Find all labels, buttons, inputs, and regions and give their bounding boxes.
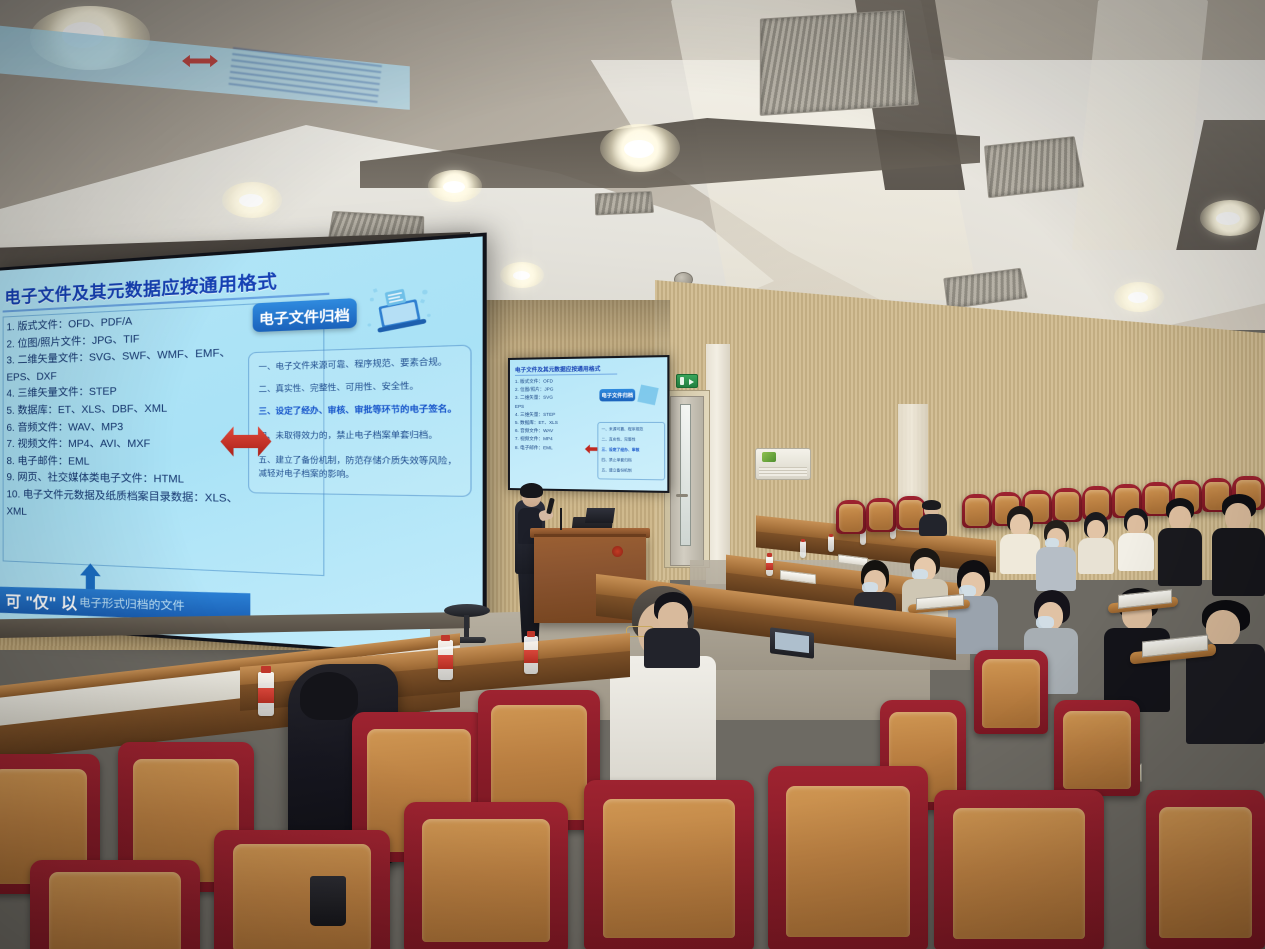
presenter-hair <box>520 483 543 498</box>
slide2-red-arrow-icon <box>585 444 597 453</box>
audience-member <box>1118 508 1154 568</box>
audience-member <box>1000 506 1040 570</box>
auditorium-seat[interactable] <box>584 780 754 949</box>
water-bottle <box>829 534 833 537</box>
slide-right-line: 一、电子文件来源可靠、程序规范、要素合规。 <box>259 356 448 372</box>
water-bottle <box>438 655 453 669</box>
auditorium-seat[interactable] <box>1054 700 1140 796</box>
downlight-icon <box>1216 212 1240 225</box>
downlight-icon <box>624 140 654 158</box>
auditorium-seat[interactable] <box>974 650 1048 734</box>
auditorium-seat[interactable] <box>768 766 928 949</box>
conference-hall-photo: 电子文件及其元数据应按通用格式 1. 版式文件：OFD、PDF/A 2. 位图/… <box>0 0 1265 949</box>
laptop-document-archive-icon <box>364 282 434 339</box>
door-glass-panel <box>680 404 691 546</box>
auditorium-seat[interactable] <box>836 500 866 534</box>
slide2-right-line: 三、设定了经办、审核 <box>601 448 639 453</box>
slide2-list-item: 3. 二维矢量：SVG <box>515 394 558 403</box>
slide2-list-item: 8. 电子邮件：EML <box>515 444 558 453</box>
water-bottle <box>800 541 806 558</box>
slide2-right-line: 二、真实性、完整性 <box>601 437 635 442</box>
water-bottle <box>801 539 805 542</box>
slide-up-arrow-icon <box>80 563 101 591</box>
slide2-list-item: 6. 音频文件：WAV <box>515 427 558 435</box>
slide2-right-box: 一、来源可靠、程序规范 二、真实性、完整性 三、设定了经办、审核 四、禁止单套归… <box>597 422 665 480</box>
secondary-projection-screen[interactable]: 电子文件及其元数据应按通用格式 1. 版式文件：OFD 2. 位图/照片：JPG… <box>508 355 669 493</box>
slide2-pill-label: 电子文件归档 <box>601 391 633 398</box>
slide2-list-item: 5. 数据库：ET、XLS <box>515 419 558 427</box>
main-projection-screen[interactable]: 电子文件及其元数据应按通用格式 1. 版式文件：OFD、PDF/A 2. 位图/… <box>0 233 487 662</box>
slide2-list: 1. 版式文件：OFD 2. 位图/照片：JPG 3. 二维矢量：SVG EPS… <box>515 377 558 452</box>
lectern-emblem-icon <box>612 546 623 557</box>
slide-right-pill-badge: 电子文件归档 <box>253 298 357 332</box>
slide2-list-item: 7. 视频文件：MP4 <box>515 435 558 443</box>
auditorium-seat[interactable] <box>866 498 896 532</box>
slide-right-line: 二、真实性、完整性、可用性、安全性。 <box>259 380 419 394</box>
slide2-list-item: EPS <box>515 402 558 410</box>
trash-bin <box>310 876 346 926</box>
slide-right-column: 电子文件归档 <box>246 265 480 624</box>
water-bottle <box>828 536 834 552</box>
hvac-vent-icon <box>984 136 1084 198</box>
auditorium-seat[interactable] <box>30 860 200 949</box>
water-bottle <box>767 553 772 557</box>
slide-banner-bold: 可 "仅" 以 <box>6 588 78 615</box>
slide-right-text-box: 一、电子文件来源可靠、程序规范、要素合规。 二、真实性、完整性、可用性、安全性。… <box>248 344 472 497</box>
downlight-icon <box>1128 292 1148 303</box>
audience-member <box>1158 498 1202 582</box>
downlight-icon <box>239 194 263 207</box>
auditorium-seat[interactable] <box>404 802 568 949</box>
slide2-list-item: 4. 三维矢量：STEP <box>515 411 558 419</box>
water-bottle <box>261 666 271 673</box>
slide2-right-line: 一、来源可靠、程序规范 <box>601 427 643 432</box>
audience-member <box>1212 494 1265 590</box>
door-handle[interactable] <box>676 494 688 497</box>
slide2-pill-badge: 电子文件归档 <box>599 389 635 402</box>
water-bottle <box>766 563 773 570</box>
slide-banner-rest: 电子形式归档的文件 <box>79 594 184 614</box>
hvac-vent-icon <box>760 10 919 116</box>
downlight-icon <box>513 271 530 280</box>
audience-member <box>644 592 700 662</box>
downlight-icon <box>443 181 465 193</box>
audience-member <box>918 500 948 534</box>
ac-brand-logo-icon <box>762 452 776 462</box>
slide-right-line: 五、建立了备份机制，防范存储介质失效等风险， <box>259 455 457 466</box>
emergency-exit-sign-icon <box>676 374 698 388</box>
slide-right-pill-label: 电子文件归档 <box>259 302 350 328</box>
slide2-right-line: 四、禁止单套归档 <box>601 458 631 463</box>
slide-right-line: 减轻对电子档案的影响。 <box>259 468 355 479</box>
water-bottle <box>527 631 535 637</box>
water-bottle <box>258 688 274 703</box>
slide2-title: 电子文件及其元数据应按通用格式 <box>515 364 600 373</box>
slide2-right-line: 五、建立备份机制 <box>601 468 631 474</box>
audience-member <box>1036 520 1076 586</box>
audience-member <box>1186 600 1265 740</box>
slide2-title-underline <box>515 373 617 375</box>
hvac-vent-icon <box>595 191 654 216</box>
stool-post <box>464 615 469 639</box>
auditorium-seat[interactable] <box>962 494 992 528</box>
auditorium-seat[interactable] <box>934 790 1104 949</box>
water-bottle <box>441 635 450 641</box>
lectern-mic-stand <box>560 508 562 530</box>
water-bottle <box>524 650 538 663</box>
slide-right-line: 四、未取得效力的，禁止电子档案单套归档。 <box>259 429 438 440</box>
auditorium-seat[interactable] <box>1146 790 1265 949</box>
auditorium-seat[interactable] <box>214 830 390 949</box>
audience-member <box>1078 512 1114 572</box>
slide2-laptop-icon <box>637 384 658 405</box>
wall-air-conditioner <box>755 448 811 480</box>
audience-member <box>290 672 368 752</box>
podium-laptop-screen <box>585 508 615 523</box>
ac-grill-icon <box>759 467 807 476</box>
slide-right-line: 三、设定了经办、审核、审批等环节的电子签名。 <box>259 403 457 416</box>
